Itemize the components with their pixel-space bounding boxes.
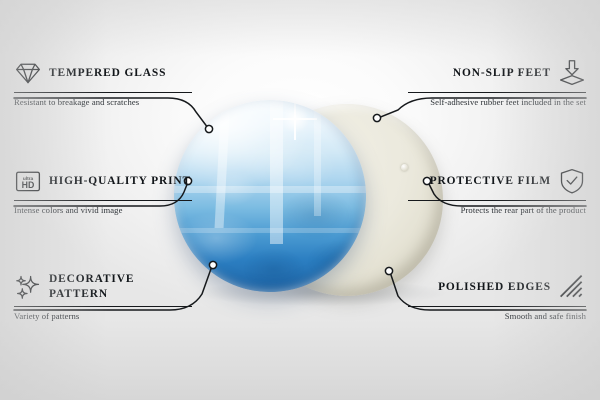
feature-polished-edges: POLISHED EDGES Smooth and safe finish: [408, 270, 586, 322]
feature-rule: [408, 200, 586, 201]
feature-rule: [408, 306, 586, 307]
feature-title: DECORATIVE PATTERN: [49, 272, 192, 301]
feature-rule: [14, 200, 192, 201]
feature-rule: [14, 306, 192, 307]
feature-description: Variety of patterns: [14, 311, 192, 323]
feature-description: Resistant to breakage and scratches: [14, 97, 192, 109]
diagonal-lines-icon: [558, 273, 586, 301]
feature-header: DECORATIVE PATTERN: [14, 270, 192, 304]
sparkles-icon: [14, 273, 42, 301]
infographic-canvas: TEMPERED GLASS Resistant to breakage and…: [0, 0, 600, 400]
shield-check-icon: [558, 167, 586, 195]
feature-tempered-glass: TEMPERED GLASS Resistant to breakage and…: [14, 56, 192, 108]
feature-header: TEMPERED GLASS: [14, 56, 192, 90]
ultra-hd-big-label: HD: [22, 180, 35, 190]
feature-header: ultra HD HIGH-QUALITY PRINT: [14, 164, 192, 198]
feature-rule: [408, 92, 586, 93]
feature-header: PROTECTIVE FILM: [408, 164, 586, 198]
feature-header: NON-SLIP FEET: [408, 56, 586, 90]
feature-title: POLISHED EDGES: [438, 280, 551, 295]
press-down-arrow-icon: [558, 59, 586, 87]
diamond-icon: [14, 59, 42, 87]
feature-title: PROTECTIVE FILM: [430, 174, 551, 189]
feature-description: Self-adhesive rubber feet included in th…: [408, 97, 586, 109]
feature-header: POLISHED EDGES: [408, 270, 586, 304]
feature-title: TEMPERED GLASS: [49, 66, 166, 81]
callout-dot-edges: [385, 267, 392, 274]
feature-description: Smooth and safe finish: [408, 311, 586, 323]
feature-protective-film: PROTECTIVE FILM Protects the rear part o…: [408, 164, 586, 216]
feature-description: Protects the rear part of the product: [408, 205, 586, 217]
callout-dot-pattern: [209, 261, 216, 268]
feature-non-slip-feet: NON-SLIP FEET Self-adhesive rubber feet …: [408, 56, 586, 108]
callout-dot-feet: [373, 114, 380, 121]
feature-high-quality-print: ultra HD HIGH-QUALITY PRINT Intense colo…: [14, 164, 192, 216]
feature-description: Intense colors and vivid image: [14, 205, 192, 217]
feature-decorative-pattern: DECORATIVE PATTERN Variety of patterns: [14, 270, 192, 322]
callout-dot-tempered-glass: [205, 125, 212, 132]
feature-title: HIGH-QUALITY PRINT: [49, 174, 191, 189]
feature-rule: [14, 92, 192, 93]
feature-title: NON-SLIP FEET: [453, 66, 551, 81]
ultra-hd-icon: ultra HD: [14, 167, 42, 195]
